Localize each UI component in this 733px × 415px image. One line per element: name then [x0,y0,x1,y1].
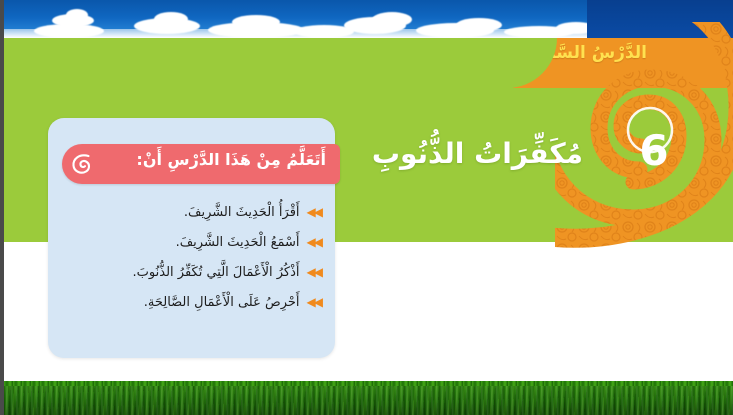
cloud-shape [372,12,412,27]
objective-text: أَذْكُرُ الْأَعْمَالَ الَّتِي تُكَفِّرُ … [133,264,300,281]
double-chevron-icon: ◀◀ [307,264,321,281]
grass-footer [4,381,733,415]
lesson-number: 6 [631,130,677,172]
slide-canvas: الدَّرْسُ السَّادِسُ 6 [0,0,733,415]
objective-text: أَحْرِصُ عَلَى الْأَعْمَالِ الصَّالِحَةِ… [144,294,300,311]
cloud-shape [154,12,188,26]
objectives-list: ◀◀ أَقْرَأُ الْحَدِيثَ الشَّرِيفَ. ◀◀ أَ… [57,204,325,324]
objectives-card: أَتَعَلَّمُ مِنْ هَذَا الدَّرْسِ أَنْ: ◀… [48,118,335,358]
cloud-shape [66,9,88,21]
cloud-shape [232,15,280,29]
objective-text: أَسْمَعُ الْحَدِيثَ الشَّرِيفَ. [176,234,300,251]
page-title: مُكَفِّرَاتُ الذُّنُوبِ [372,137,583,170]
double-chevron-icon: ◀◀ [307,204,321,221]
list-item: ◀◀ أَحْرِصُ عَلَى الْأَعْمَالِ الصَّالِح… [57,294,325,311]
objectives-header-label: أَتَعَلَّمُ مِنْ هَذَا الدَّرْسِ أَنْ: [136,150,326,169]
list-item: ◀◀ أَسْمَعُ الْحَدِيثَ الشَّرِيفَ. [57,234,325,251]
list-item: ◀◀ أَقْرَأُ الْحَدِيثَ الشَّرِيفَ. [57,204,325,221]
objectives-header: أَتَعَلَّمُ مِنْ هَذَا الدَّرْسِ أَنْ: [62,144,340,184]
list-item: ◀◀ أَذْكُرُ الْأَعْمَالَ الَّتِي تُكَفِّ… [57,264,325,281]
grass-blade-edge [4,381,733,386]
double-chevron-icon: ◀◀ [307,234,321,251]
double-chevron-icon: ◀◀ [307,294,321,311]
objective-text: أَقْرَأُ الْحَدِيثَ الشَّرِيفَ. [184,204,300,221]
spiral-icon [70,150,98,178]
